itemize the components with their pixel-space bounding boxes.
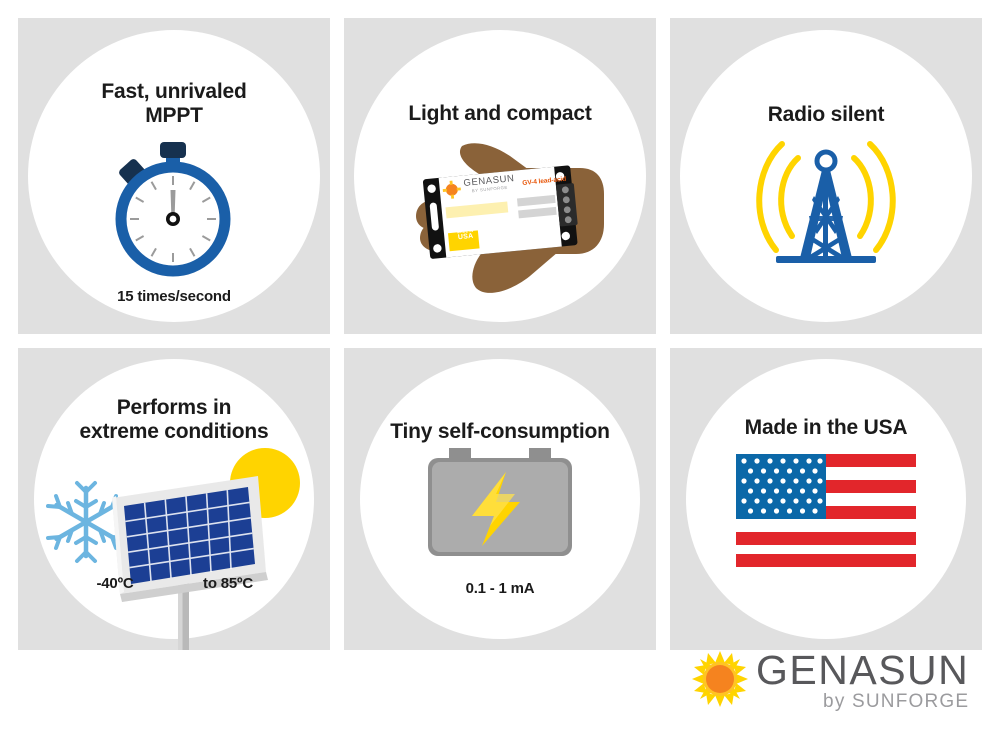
panel-title: Performs in extreme conditions: [18, 396, 330, 443]
panel-light-compact: Light and compact: [344, 18, 656, 334]
usa-flag-icon: [736, 454, 916, 570]
sun-icon: [692, 651, 748, 712]
stopwatch-icon: [100, 142, 250, 282]
panel-title-line: extreme conditions: [18, 420, 330, 444]
panel-title: Light and compact: [344, 102, 656, 126]
feature-grid: Fast, unrivaled MPPT: [18, 18, 982, 650]
panel-title: Tiny self-consumption: [344, 420, 656, 444]
hand-holding-device-icon: GENASUN BY SUNFORGE GV-4 lead-acid MADE …: [390, 138, 610, 298]
panel-caption-left: -40ºC: [80, 575, 150, 592]
solar-panel-snowflake-sun-icon: [38, 444, 314, 650]
panel-radio-silent: Radio silent: [670, 18, 982, 334]
battery-bolt-icon: [420, 448, 580, 564]
brand-logo: GENASUN by SUNFORGE: [692, 651, 982, 723]
panel-title-line: Tiny self-consumption: [344, 420, 656, 444]
panel-fast-mppt: Fast, unrivaled MPPT: [18, 18, 330, 334]
panel-caption-right: to 85ºC: [188, 575, 268, 592]
panel-title-line: MPPT: [18, 104, 330, 128]
panel-title-line: Light and compact: [344, 102, 656, 126]
panel-caption: 15 times/second: [18, 288, 330, 305]
panel-title-line: Performs in: [18, 396, 330, 420]
panel-made-in-usa: Made in the USA: [670, 348, 982, 650]
panel-title-line: Radio silent: [670, 103, 982, 127]
logo-tagline: by SUNFORGE: [756, 692, 969, 713]
panel-title: Fast, unrivaled MPPT: [18, 80, 330, 127]
panel-extreme-conditions: Performs in extreme conditions: [18, 348, 330, 650]
panel-title: Made in the USA: [670, 416, 982, 440]
panel-title-line: Fast, unrivaled: [18, 80, 330, 104]
panel-tiny-self-consumption: Tiny self-consumption 0.1 - 1 mA: [344, 348, 656, 650]
radio-tower-icon: [746, 134, 906, 284]
panel-title-line: Made in the USA: [670, 416, 982, 440]
panel-title: Radio silent: [670, 103, 982, 127]
panel-caption: 0.1 - 1 mA: [344, 580, 656, 597]
logo-wordmark: GENASUN: [756, 651, 969, 690]
